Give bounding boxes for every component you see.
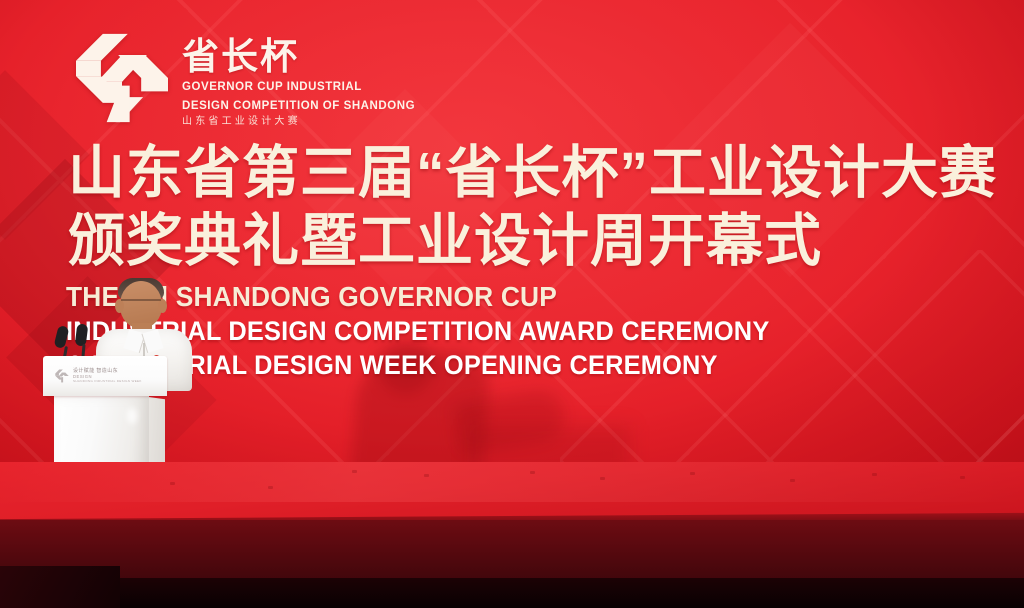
podium-branding-plate: 设计赋能 智造山东 DESIGN SHANDONG INDUSTRIAL DES… <box>55 365 147 387</box>
logo-chinese-name: 省长杯 <box>182 38 415 75</box>
podium-plate-chinese: 设计赋能 智造山东 <box>73 369 142 374</box>
governor-cup-monogram-icon <box>74 32 170 124</box>
foreground-corner-shadow <box>0 566 120 608</box>
foreground-dark-band <box>0 578 1024 608</box>
speaker-glasses <box>121 299 161 307</box>
event-logo-lockup: 省长杯 GOVERNOR CUP INDUSTRIAL DESIGN COMPE… <box>74 32 415 127</box>
event-stage-photo: 省长杯 GOVERNOR CUP INDUSTRIAL DESIGN COMPE… <box>0 0 1024 608</box>
headline-line-2: 颁奖典礼暨工业设计周开幕式 <box>68 210 1008 272</box>
podium-plate-tiny: SHANDONG INDUSTRIAL DESIGN WEEK <box>73 380 142 383</box>
stage-floor-markers <box>0 468 1024 498</box>
logo-english-line-2: DESIGN COMPETITION OF SHANDONG <box>182 99 415 113</box>
logo-chinese-subtitle: 山东省工业设计大赛 <box>182 117 415 127</box>
podium-logo-icon <box>55 369 69 383</box>
podium-front-panel: 设计赋能 智造山东 DESIGN SHANDONG INDUSTRIAL DES… <box>43 356 167 396</box>
headline-line-1: 山东省第三届“省长杯”工业设计大赛 <box>68 142 1008 204</box>
podium-highlight <box>127 408 137 424</box>
event-headline: 山东省第三届“省长杯”工业设计大赛 颁奖典礼暨工业设计周开幕式 <box>68 142 1008 272</box>
stage-front-face <box>0 520 1024 584</box>
logo-english-line-1: GOVERNOR CUP INDUSTRIAL <box>182 80 415 94</box>
